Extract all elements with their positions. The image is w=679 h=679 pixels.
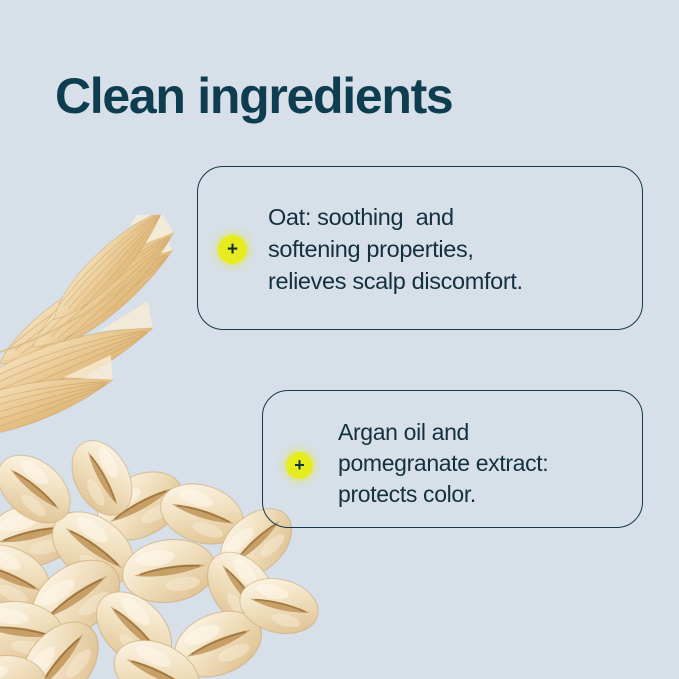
clean-ingredients-panel: Clean ingredients — [0, 0, 679, 679]
plus-symbol: + — [294, 456, 305, 475]
ingredient-card-oat[interactable]: + Oat: soothing and softening properties… — [197, 166, 643, 330]
ingredient-card-argan-pomegranate-text: Argan oil and pomegranate extract: prote… — [338, 417, 548, 510]
plus-symbol: + — [227, 240, 238, 259]
oat-spikelets — [0, 215, 189, 451]
plus-icon[interactable]: + — [218, 235, 247, 264]
ingredient-card-oat-text: Oat: soothing and softening properties, … — [268, 201, 523, 297]
page-title: Clean ingredients — [55, 67, 452, 125]
ingredient-card-argan-pomegranate[interactable]: + Argan oil and pomegranate extract: pro… — [262, 390, 643, 528]
plus-icon[interactable]: + — [286, 452, 313, 479]
